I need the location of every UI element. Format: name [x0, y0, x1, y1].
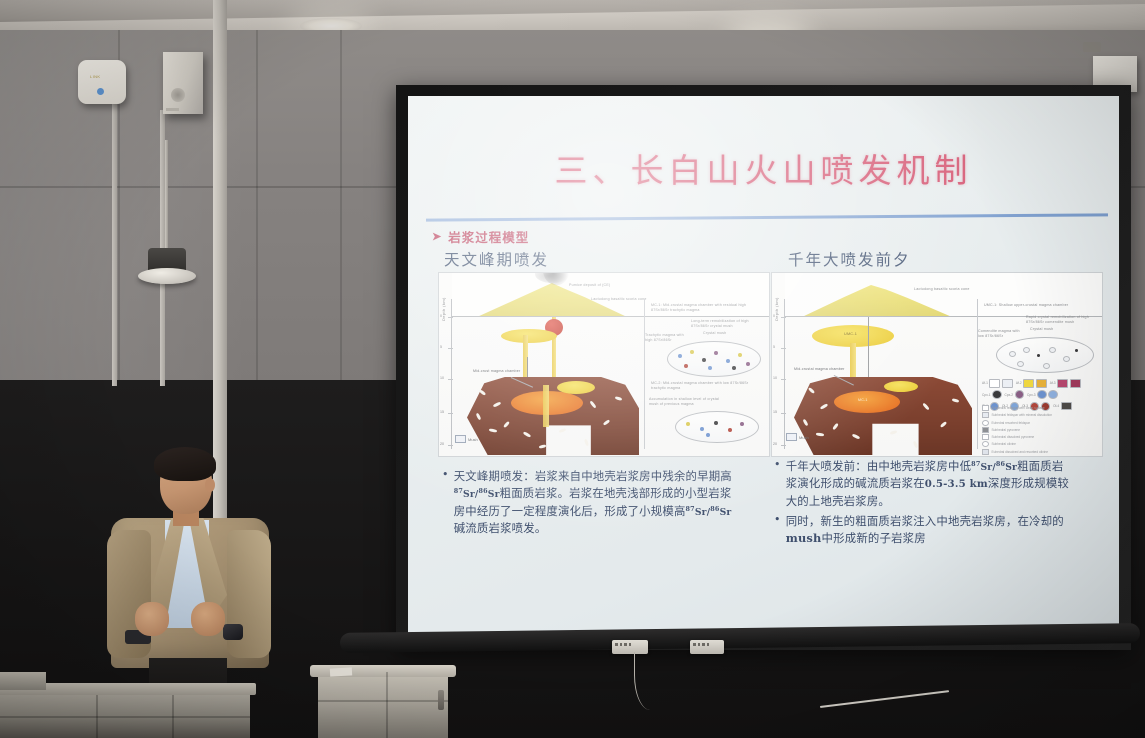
legend-label: Af-3: [1050, 381, 1056, 385]
symbol-legend-list: Subhedral feldspar with clean surface Su…: [982, 405, 1052, 456]
crystal-mush-grain: [913, 441, 919, 449]
legend-list-label: Euhedral resorbed feldspar: [992, 421, 1030, 425]
mush-legend-label: Mush: [468, 437, 478, 442]
diagram-annotation: Crystal mush: [1030, 327, 1062, 332]
chamber-code-label: MC-1: [858, 398, 868, 403]
legend-swatch: [1002, 379, 1013, 388]
axis-tick: 0: [773, 314, 775, 318]
legend-swatch: [1037, 390, 1047, 399]
desk-panel-seam: [0, 716, 250, 718]
presenter: [105, 452, 275, 714]
presenter-hand-right: [191, 602, 225, 636]
wall-bracket: [1083, 42, 1101, 52]
legend-list-label: Subhedral pyroxene: [992, 428, 1021, 432]
legend-swatch: [1036, 379, 1047, 388]
legend-list-label: Subhedral feldspar with clean surface: [992, 406, 1045, 410]
mush-legend-key: Mush: [455, 435, 478, 443]
depth-axis: [784, 299, 785, 449]
lectern: [318, 672, 448, 738]
diagram-annotation: Accumulation in shallow level of crystal…: [649, 397, 727, 408]
legend-label: Af-2: [1016, 381, 1022, 385]
bullet-text-2: 中形成新的子岩浆房: [822, 531, 926, 545]
slide-body-right: • 千年大喷发前：由中地壳岩浆房中低87Sr/86Sr粗面质岩浆演化形成的碱流质…: [774, 458, 1074, 551]
mush-inset-lower: [675, 411, 759, 443]
legend-list-item: Subhedral feldspar with mineral dissolut…: [982, 412, 1052, 418]
diagram-divider: [644, 299, 645, 449]
diagram-annotation: Mid-crust magma chamber: [473, 369, 553, 374]
bullet-text-3: 碱流质岩浆喷发。: [454, 521, 547, 535]
diagram-annotation: Laotudong basaltic scoria cone: [591, 297, 687, 302]
status-led-icon: [97, 88, 104, 95]
bullet-lead: 天文峰期喷发：: [454, 469, 535, 483]
desk-side-block: [0, 672, 46, 690]
diagram-annotation: Trachytic magma with high 87Sr/86Sr: [645, 333, 689, 344]
wall-speaker: [163, 52, 203, 114]
desk-panel-seam: [172, 695, 174, 738]
crystal-mush-grain: [559, 428, 567, 433]
upper-chamber-lobe: [557, 381, 595, 394]
section-bullet-label: 岩浆过程模型: [448, 227, 529, 246]
bullet-item: • 千年大喷发前：由中地壳岩浆房中低87Sr/86Sr粗面质岩浆演化形成的碱流质…: [774, 458, 1074, 510]
depth-axis: [451, 299, 452, 449]
legend-swatch: [1070, 379, 1081, 388]
legend-list-item: Subhedral olivine: [982, 441, 1052, 447]
sr-prefix: 高: [674, 504, 686, 518]
legend-label: Ol-4: [1053, 404, 1059, 408]
bullet-text: 千年大喷发前：由中地壳岩浆房中低87Sr/86Sr粗面质岩浆演化形成的碱流质岩浆…: [786, 458, 1074, 510]
legend-swatch: [1048, 390, 1058, 399]
legend-list-item: Subhedral feldspar with clean surface: [982, 405, 1052, 411]
mid-crust-magma-chamber: [467, 377, 639, 455]
front-desk: [0, 690, 250, 738]
projection-screen-frame: 三、长白山火山喷发机制 ➤ 岩浆过程模型 天文峰期喷发 千年大喷发前夕 D: [396, 85, 1131, 650]
mush-swatch-icon: [786, 433, 797, 441]
bullet-item: • 天文峰期喷发：岩浆来自中地壳岩浆房中残余的早期高87Sr/86Sr粗面质岩浆…: [442, 468, 732, 537]
sub-chamber-lobe: [884, 381, 918, 392]
wall-seam: [340, 30, 342, 382]
mush-legend-label: Mush: [799, 435, 809, 440]
ceiling-light-dish: [138, 268, 196, 284]
crystal-mush-grain: [890, 430, 898, 435]
diagram-divider: [977, 299, 978, 449]
slide-title: 三、长白山火山喷发机制: [408, 144, 1119, 192]
projection-screen-surface: 三、长白山火山喷发机制 ➤ 岩浆过程模型 天文峰期喷发 千年大喷发前夕 D: [408, 96, 1119, 637]
ground-line: [452, 316, 769, 317]
axis-tick: 20: [773, 442, 777, 446]
sr-ratio: 87Sr/86Sr: [971, 462, 1017, 473]
outlet-sockets-icon: [693, 643, 709, 646]
legend-list-item: Subhedral pyroxene: [982, 427, 1052, 433]
wristwatch: [223, 624, 243, 640]
legend-list-item: Euhedral resorbed feldspar: [982, 420, 1052, 426]
axis-tick: 10: [773, 376, 777, 380]
bullet-text-1: 由中地壳岩浆房中: [867, 459, 960, 473]
legend-swatch: [1057, 379, 1068, 388]
legend-list-label: Subhedral olivine: [992, 442, 1016, 446]
bullet-text: 同时，新生的粗面质岩浆注入中地壳岩浆房，在冷却的mush中形成新的子岩浆房: [786, 513, 1074, 548]
lectern-panel-seam: [318, 700, 448, 702]
speaker-grill-icon: [171, 88, 185, 102]
wifi-access-point: LINK: [78, 60, 126, 104]
legend-label: Cpx-1: [982, 393, 991, 397]
mush-legend-key: Mush: [786, 433, 809, 441]
lectern-paper: [330, 667, 352, 676]
diagram-left: Depth (km) 0 5 10 15 20 Pumice deposit o…: [438, 272, 770, 457]
bullet-marker: •: [442, 468, 449, 482]
legend-list-item: Euhedral dissolved and resorbed olivine: [982, 449, 1052, 455]
legend-swatch: [982, 420, 989, 426]
legend-list-label: Subhedral dissolved pyroxene: [992, 435, 1035, 439]
sr-ratio: 87Sr/86Sr: [454, 489, 500, 500]
keyword-mush: mush: [786, 531, 822, 545]
access-point-brand: LINK: [90, 74, 101, 79]
axis-tick: 0: [440, 314, 442, 318]
wall-conduit: [112, 66, 117, 386]
legend-swatch: [982, 449, 989, 455]
bullet-text: 天文峰期喷发：岩浆来自中地壳岩浆房中残余的早期高87Sr/86Sr粗面质岩浆。岩…: [454, 468, 732, 537]
projector-mount-rod: [165, 140, 168, 250]
legend-list-item: Subhedral dissolved pyroxene: [982, 434, 1052, 440]
sr-prefix: 低: [960, 459, 972, 473]
legend-swatch: [982, 434, 989, 440]
sr-prefix: 高: [720, 469, 732, 483]
lectern-panel-seam: [386, 672, 388, 738]
bullet-text-1: 同时，新生的粗面质岩浆注入中地壳岩浆房，在冷却的: [786, 514, 1064, 528]
bullet-item: • 同时，新生的粗面质岩浆注入中地壳岩浆房，在冷却的mush中形成新的子岩浆房: [774, 513, 1074, 548]
legend-swatch: [1023, 379, 1034, 388]
legend-label: Af-1: [982, 381, 988, 385]
wall-outlet-plate: [690, 640, 724, 654]
column-heading-right: 千年大喷发前夕: [788, 248, 911, 270]
bullet-lead: 千年大喷发前：: [786, 459, 867, 473]
bullet-text-1: 岩浆来自中地壳岩浆房中残余的早期: [535, 469, 720, 483]
legend-swatch: [982, 405, 989, 411]
lecture-room-photo: 安全出口 LINK 三、长白山火山喷发机制 ➤ 岩浆过程模型 天文峰期喷发 千年…: [0, 0, 1145, 738]
bullet-marker: •: [774, 458, 781, 472]
diagram-annotation: MC-1: Mid-crustal magma chamber with res…: [651, 303, 759, 314]
depth-range: 0.5-3.5 km: [925, 478, 988, 490]
presenter-hand-left: [135, 602, 169, 636]
legend-swatch: [982, 412, 989, 418]
legend-swatch: [982, 441, 989, 447]
central-feeder: [543, 385, 549, 427]
bullet-marker: •: [774, 513, 781, 527]
legend-row: Cpx-1 Cpx-2 Cpx-3: [982, 390, 1081, 399]
presenter-ear: [205, 478, 215, 492]
diagram-annotation: Laotudong basaltic scoria cone: [914, 287, 1010, 292]
diagram-annotation: Pumice deposit of (CE): [569, 283, 659, 288]
mid-crust-magma-chamber: [794, 377, 972, 455]
lectern-handle: [438, 690, 444, 710]
desk-panel-seam: [96, 695, 98, 738]
slide-body-left: • 天文峰期喷发：岩浆来自中地壳岩浆房中残余的早期高87Sr/86Sr粗面质岩浆…: [442, 468, 732, 540]
comendite-mush-inset: [996, 337, 1094, 373]
legend-row: Af-1 Af-2 Af-3: [982, 379, 1081, 388]
legend-swatch: [1015, 390, 1025, 399]
outlet-sockets-icon: [615, 643, 631, 646]
diagram-annotation: Mid-crustal magma chamber: [794, 367, 880, 372]
axis-tick: 15: [440, 410, 444, 414]
diagram-annotation: UMC-1: Shallow upper-crustal magma chamb…: [984, 303, 1088, 308]
diagram-annotation: MC-2: Mid-crustal magma chamber with low…: [651, 381, 759, 392]
diagram-annotation: Crystal mush: [703, 331, 737, 336]
column-heading-left: 天文峰期喷发: [444, 248, 549, 270]
axis-tick: 5: [440, 345, 442, 349]
shallow-sill: [501, 329, 557, 343]
title-divider: [426, 213, 1108, 221]
axis-tick: 20: [440, 442, 444, 446]
sr-ratio: 87Sr/86Sr: [686, 507, 732, 518]
legend-list-label: Euhedral dissolved and resorbed olivine: [992, 450, 1049, 454]
legend-label: Cpx-2: [1005, 393, 1014, 397]
diagram-annotation: Long-term remobilization of high 87Sr/86…: [691, 319, 757, 330]
legend-swatch: [982, 427, 989, 433]
crystal-mush-grain: [584, 439, 589, 447]
chamber-code-label: UMC-1: [844, 332, 857, 338]
legend-swatch: [992, 390, 1002, 399]
legend-list-label: Subhedral feldspar with mineral dissolut…: [992, 413, 1053, 417]
section-bullet: ➤ 岩浆过程模型: [432, 227, 529, 246]
wall-seam: [256, 30, 258, 382]
diagram-annotation: Comendite magma with low 87Sr/86Sr: [978, 329, 1024, 340]
mush-inset-upper: [667, 341, 761, 377]
axis-tick: 5: [773, 345, 775, 349]
legend-swatch: [1061, 402, 1072, 411]
legend-swatch: [989, 379, 1000, 388]
axis-tick: 10: [440, 376, 444, 380]
legend-label: Cpx-3: [1027, 393, 1036, 397]
arrow-bullet-icon: ➤: [432, 230, 442, 243]
speaker-slot: [166, 108, 179, 111]
diagram-annotation: Rapid crystal remobilization of high 87S…: [1026, 315, 1092, 326]
axis-tick: 15: [773, 410, 777, 414]
mush-swatch-icon: [455, 435, 466, 443]
presenter-hair: [154, 447, 216, 481]
diagram-right: Depth (km) 0 5 10 15 20 Laotudong basalt…: [771, 272, 1103, 457]
